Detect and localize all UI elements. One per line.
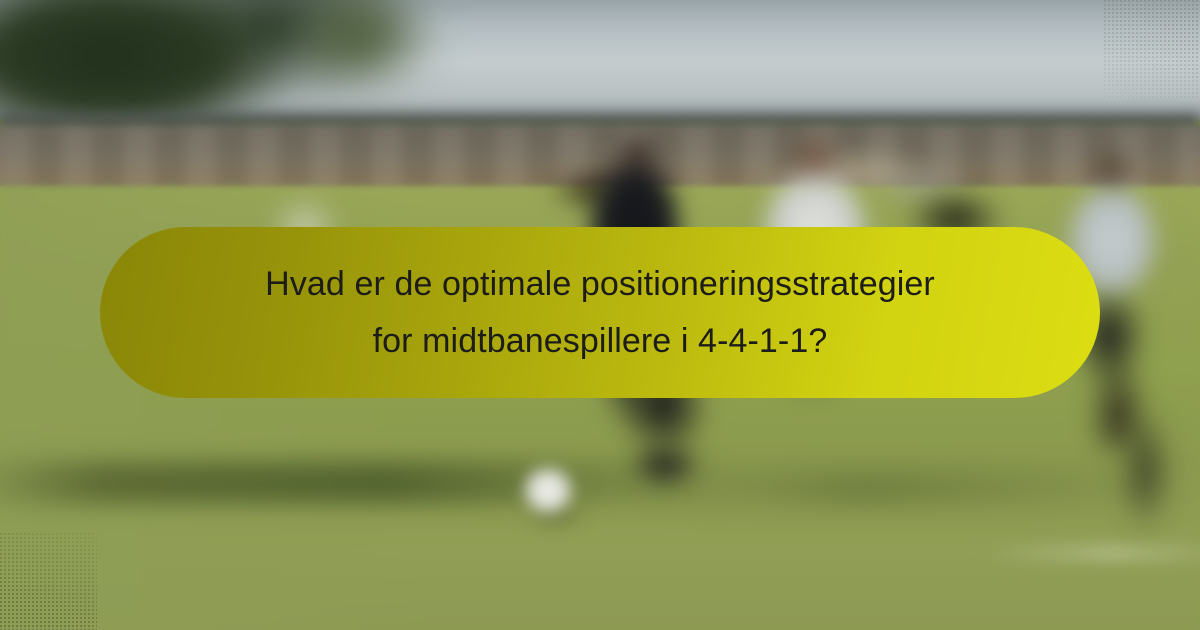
tree-foliage-right — [250, 0, 470, 110]
page-title: Hvad er de optimale positioneringsstrate… — [265, 256, 935, 370]
social-share-card: Hvad er de optimale positioneringsstrate… — [0, 0, 1200, 630]
player-right-leg — [1090, 380, 1200, 560]
football — [508, 458, 588, 530]
headline-pill: Hvad er de optimale positioneringsstrate… — [100, 227, 1100, 398]
page-title-line-1: Hvad er de optimale positioneringsstrate… — [265, 265, 935, 303]
page-title-line-2: for midtbanespillere i 4-4-1-1? — [373, 322, 828, 360]
player-boot — [600, 420, 730, 510]
